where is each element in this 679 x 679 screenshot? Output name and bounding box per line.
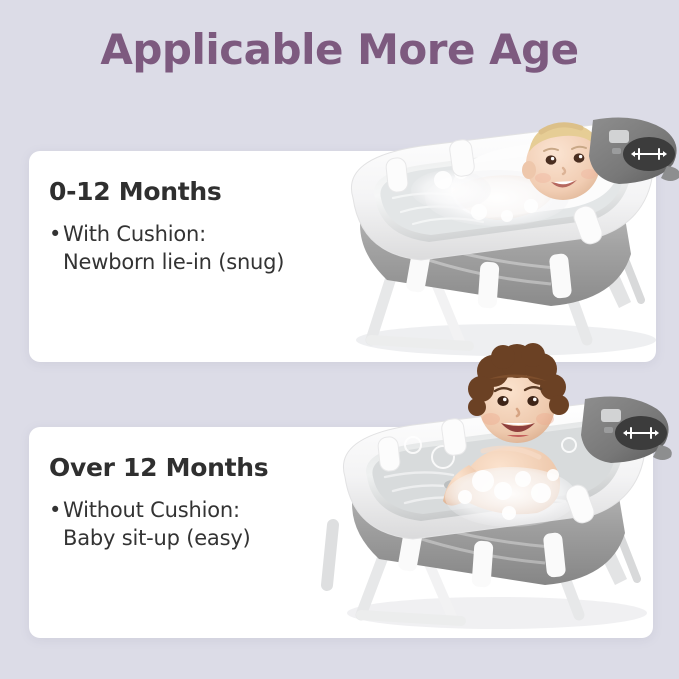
card-text-block-0-12: 0-12 Months •With Cushion: Newborn lie-i…: [49, 177, 284, 276]
product-image-without-cushion: [297, 335, 679, 640]
page-title: Applicable More Age: [0, 24, 679, 76]
card-bullet-line-1: •Without Cushion:: [49, 496, 268, 524]
card-text-block-over-12: Over 12 Months •Without Cushion: Baby si…: [49, 453, 268, 552]
card-bullet-line-2: Baby sit-up (easy): [49, 524, 268, 552]
age-card-over-12-months: Over 12 Months •Without Cushion: Baby si…: [29, 427, 653, 638]
bullet-marker-icon: •: [49, 220, 63, 248]
age-card-0-12-months: 0-12 Months •With Cushion: Newborn lie-i…: [29, 151, 656, 362]
card-heading: 0-12 Months: [49, 177, 284, 207]
bullet-text-1: With Cushion:: [63, 222, 206, 246]
infographic-page: Applicable More Age: [0, 0, 679, 679]
bullet-marker-icon: •: [49, 496, 63, 524]
bullet-text-1: Without Cushion:: [63, 498, 240, 522]
card-bullet-line-2: Newborn lie-in (snug): [49, 248, 284, 276]
product-image-with-cushion: [301, 94, 679, 366]
card-bullet-line-1: •With Cushion:: [49, 220, 284, 248]
card-heading: Over 12 Months: [49, 453, 268, 483]
